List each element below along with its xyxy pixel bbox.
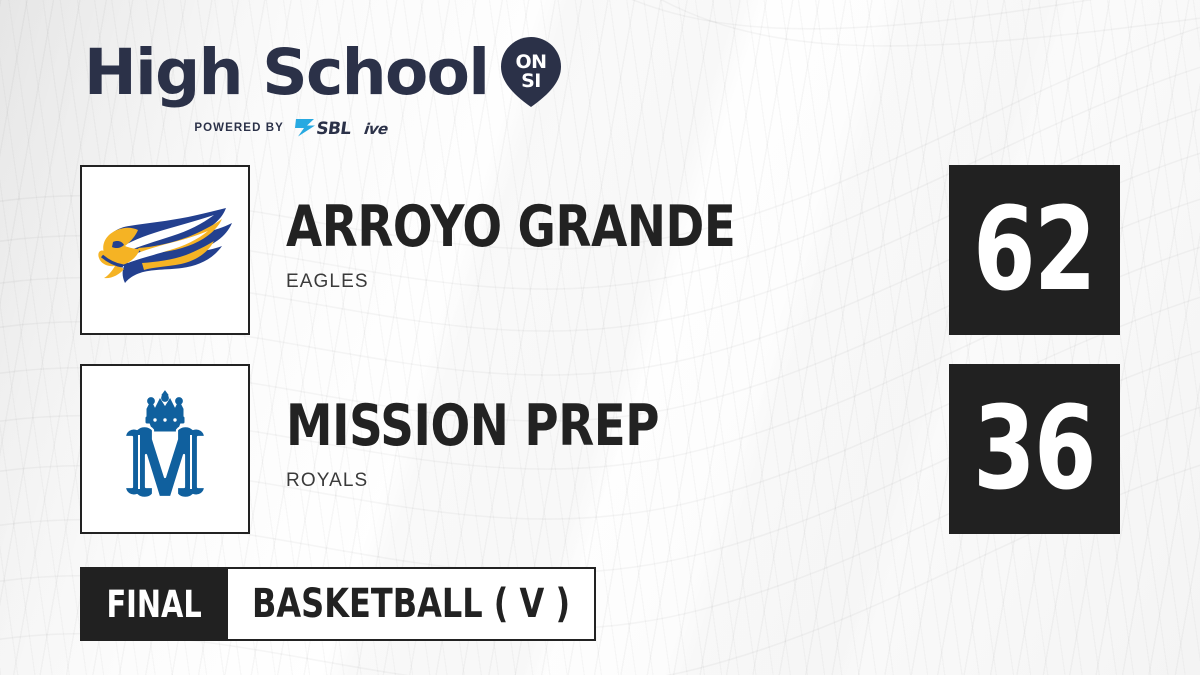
team-name: ARROYO GRANDE — [286, 199, 860, 256]
eagle-head-logo — [90, 175, 240, 325]
sblive-bolt-icon: SBL ive — [292, 117, 404, 138]
logo-wordmark-text: High School — [84, 41, 488, 104]
score-box-team-1: 62 — [949, 165, 1120, 335]
logo-wordmark-row: High School ON SI — [84, 36, 562, 108]
team-logo-box-arroyo-grande — [80, 165, 250, 335]
crowned-m-logo — [95, 379, 235, 519]
team-info: ARROYO GRANDE EAGLES — [286, 199, 986, 293]
svg-text:ive: ive — [363, 120, 389, 138]
on-si-pin-icon: ON SI — [500, 36, 562, 108]
powered-by-label: POWERED BY — [194, 122, 284, 134]
team-mascot: ROYALS — [286, 470, 986, 492]
team-info: MISSION PREP ROYALS — [286, 398, 986, 492]
powered-by-row: POWERED BY SBL ive — [84, 117, 562, 138]
sport-label-panel: BASKETBALL ( V ) — [228, 567, 596, 641]
team-mascot: EAGLES — [286, 271, 986, 293]
score-value: 36 — [974, 392, 1096, 507]
status-badge: FINAL — [80, 567, 228, 641]
team-logo-box-mission-prep — [80, 364, 250, 534]
team-name: MISSION PREP — [286, 398, 860, 455]
sport-label: BASKETBALL ( V ) — [252, 584, 570, 624]
svg-text:SI: SI — [521, 70, 541, 92]
score-value: 62 — [974, 193, 1096, 308]
svg-text:SBL: SBL — [315, 119, 353, 138]
sblive-logo: SBL ive — [292, 117, 404, 138]
scoreboard-graphic: High School ON SI POWERED BY SBL ive — [0, 0, 1200, 675]
status-badge-label: FINAL — [106, 586, 201, 623]
game-status-bar: FINAL BASKETBALL ( V ) — [80, 567, 596, 641]
high-school-on-si-logo: High School ON SI POWERED BY SBL ive — [84, 36, 562, 138]
score-box-team-2: 36 — [949, 364, 1120, 534]
